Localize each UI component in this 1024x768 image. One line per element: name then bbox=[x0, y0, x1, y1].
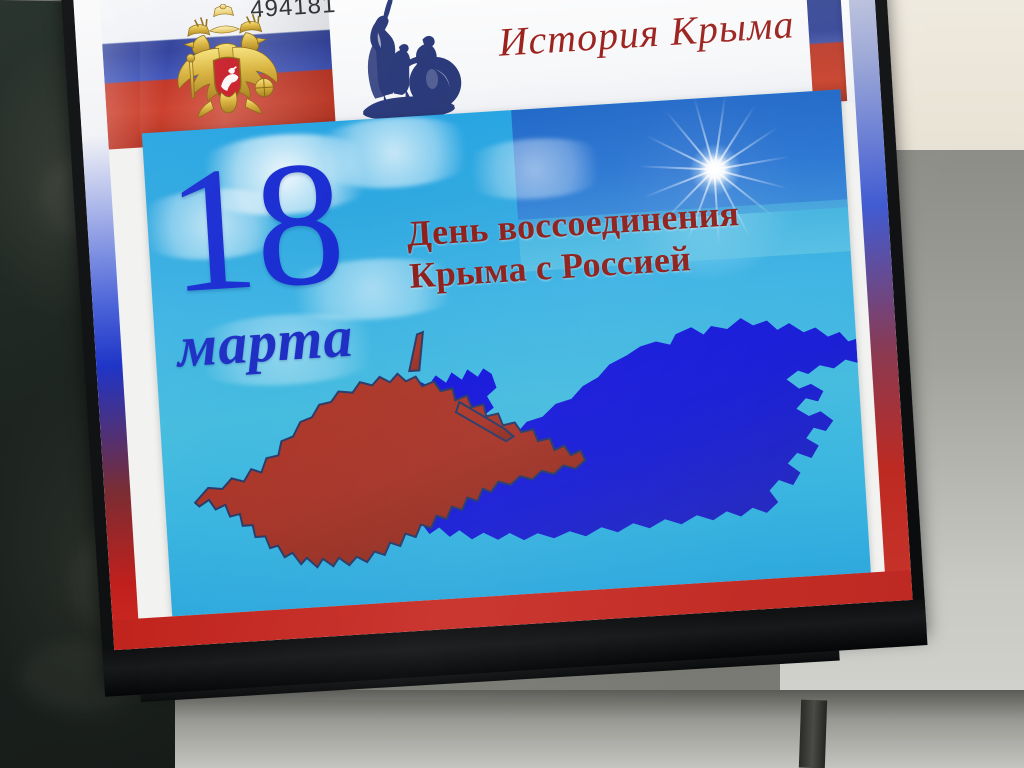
day-number: 18 bbox=[163, 147, 346, 307]
crimea-spit bbox=[407, 332, 425, 371]
poster-headline: День воссоединения Крыма с Россией bbox=[405, 187, 830, 298]
presentation-slide[interactable]: 494181 bbox=[73, 0, 913, 650]
russian-flag-right bbox=[804, 0, 847, 103]
interactive-display[interactable]: NexTouch INTERACTIVE LINE 494181 bbox=[73, 0, 917, 710]
monument-silhouette-icon bbox=[329, 0, 478, 131]
display-stand-leg bbox=[799, 700, 827, 768]
map-illustration bbox=[154, 289, 870, 616]
slide-title: История Крыма bbox=[497, 0, 796, 66]
room-scene: NexTouch INTERACTIVE LINE 494181 bbox=[0, 0, 1024, 768]
crimea-shape bbox=[188, 362, 591, 574]
poster-image: 18 марта День воссоединения Крыма с Росс… bbox=[142, 89, 871, 616]
